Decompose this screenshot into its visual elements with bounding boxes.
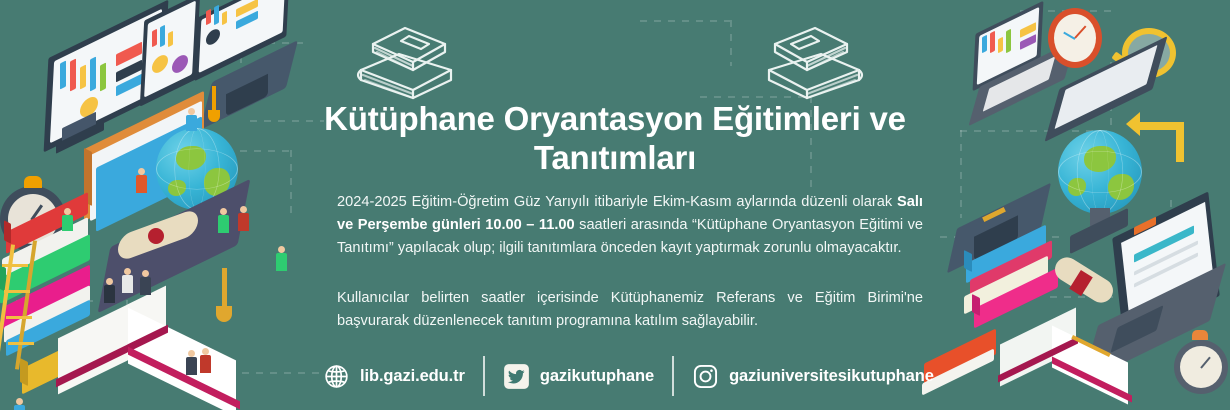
paragraph-contact: Kullanıcılar belirten saatler içerisinde… [337,287,923,333]
footer-instagram-label: gaziuniversitesikutuphane [729,367,934,386]
paragraph-schedule: 2024-2025 Eğitim-Öğretim Güz Yarıyılı it… [337,191,923,260]
book-stack-outline-icon [755,18,873,105]
footer-contact-bar: lib.gazi.edu.tr gazikutuphane [305,352,925,400]
center-content: Kütüphane Oryantasyon Eğitimleri ve Tanı… [305,0,925,410]
twitter-icon [503,363,530,390]
library-orientation-banner: Kütüphane Oryantasyon Eğitimleri ve Tanı… [0,0,1230,410]
instagram-icon [692,363,719,390]
footer-website-label: lib.gazi.edu.tr [360,367,465,386]
footer-item-twitter[interactable]: gazikutuphane [485,356,672,396]
book-stack-outline-icon [347,18,465,105]
page-title: Kütüphane Oryantasyon Eğitimleri ve Tanı… [305,100,925,177]
footer-twitter-label: gazikutuphane [540,367,654,386]
right-illustration [930,0,1230,410]
decorative-book-icons [305,18,925,104]
footer-item-website[interactable]: lib.gazi.edu.tr [305,356,483,396]
left-illustration [0,0,310,410]
footer-item-instagram[interactable]: gaziuniversitesikutuphane [674,356,952,396]
paragraph-schedule-part1: 2024-2025 Eğitim-Öğretim Güz Yarıyılı it… [337,194,897,210]
globe-icon [323,363,350,390]
